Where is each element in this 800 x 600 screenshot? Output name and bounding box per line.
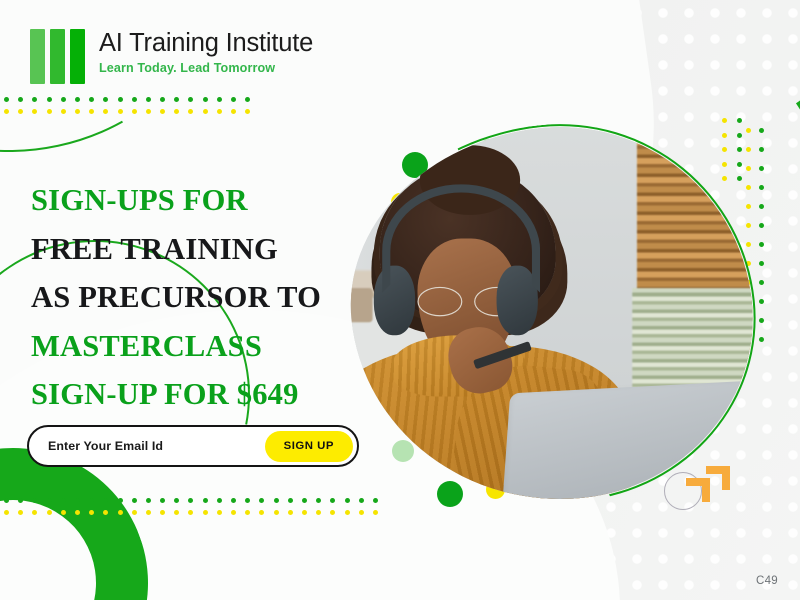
promotional-banner: AI Training Institute Learn Today. Lead … <box>0 0 800 600</box>
headline: SIGN-UPS FOR FREE TRAINING AS PRECURSOR … <box>31 176 371 419</box>
headline-line-4: MASTERCLASS <box>31 322 371 371</box>
headline-line-1: SIGN-UPS FOR <box>31 176 371 225</box>
headline-line-5: SIGN-UP FOR $649 <box>31 370 371 419</box>
dot-grid-icon-left-top <box>4 97 259 121</box>
three-bars-icon <box>30 29 85 84</box>
signup-button[interactable]: SIGN UP <box>265 431 353 462</box>
brand-text: AI Training Institute Learn Today. Lead … <box>99 27 313 75</box>
email-input[interactable] <box>48 427 265 465</box>
dot-grid-icon-left-bottom <box>4 498 387 522</box>
headline-line-3: AS PRECURSOR TO <box>31 273 371 322</box>
signup-form[interactable]: SIGN UP <box>27 425 359 467</box>
corner-code: C49 <box>756 575 778 587</box>
hero-photo <box>352 128 752 500</box>
headline-line-2: FREE TRAINING <box>31 225 371 274</box>
ascending-chevrons-icon <box>664 448 742 512</box>
brand-tagline: Learn Today. Lead Tomorrow <box>99 61 313 75</box>
brand-name: AI Training Institute <box>99 29 313 58</box>
brand-logo[interactable]: AI Training Institute Learn Today. Lead … <box>30 27 313 84</box>
